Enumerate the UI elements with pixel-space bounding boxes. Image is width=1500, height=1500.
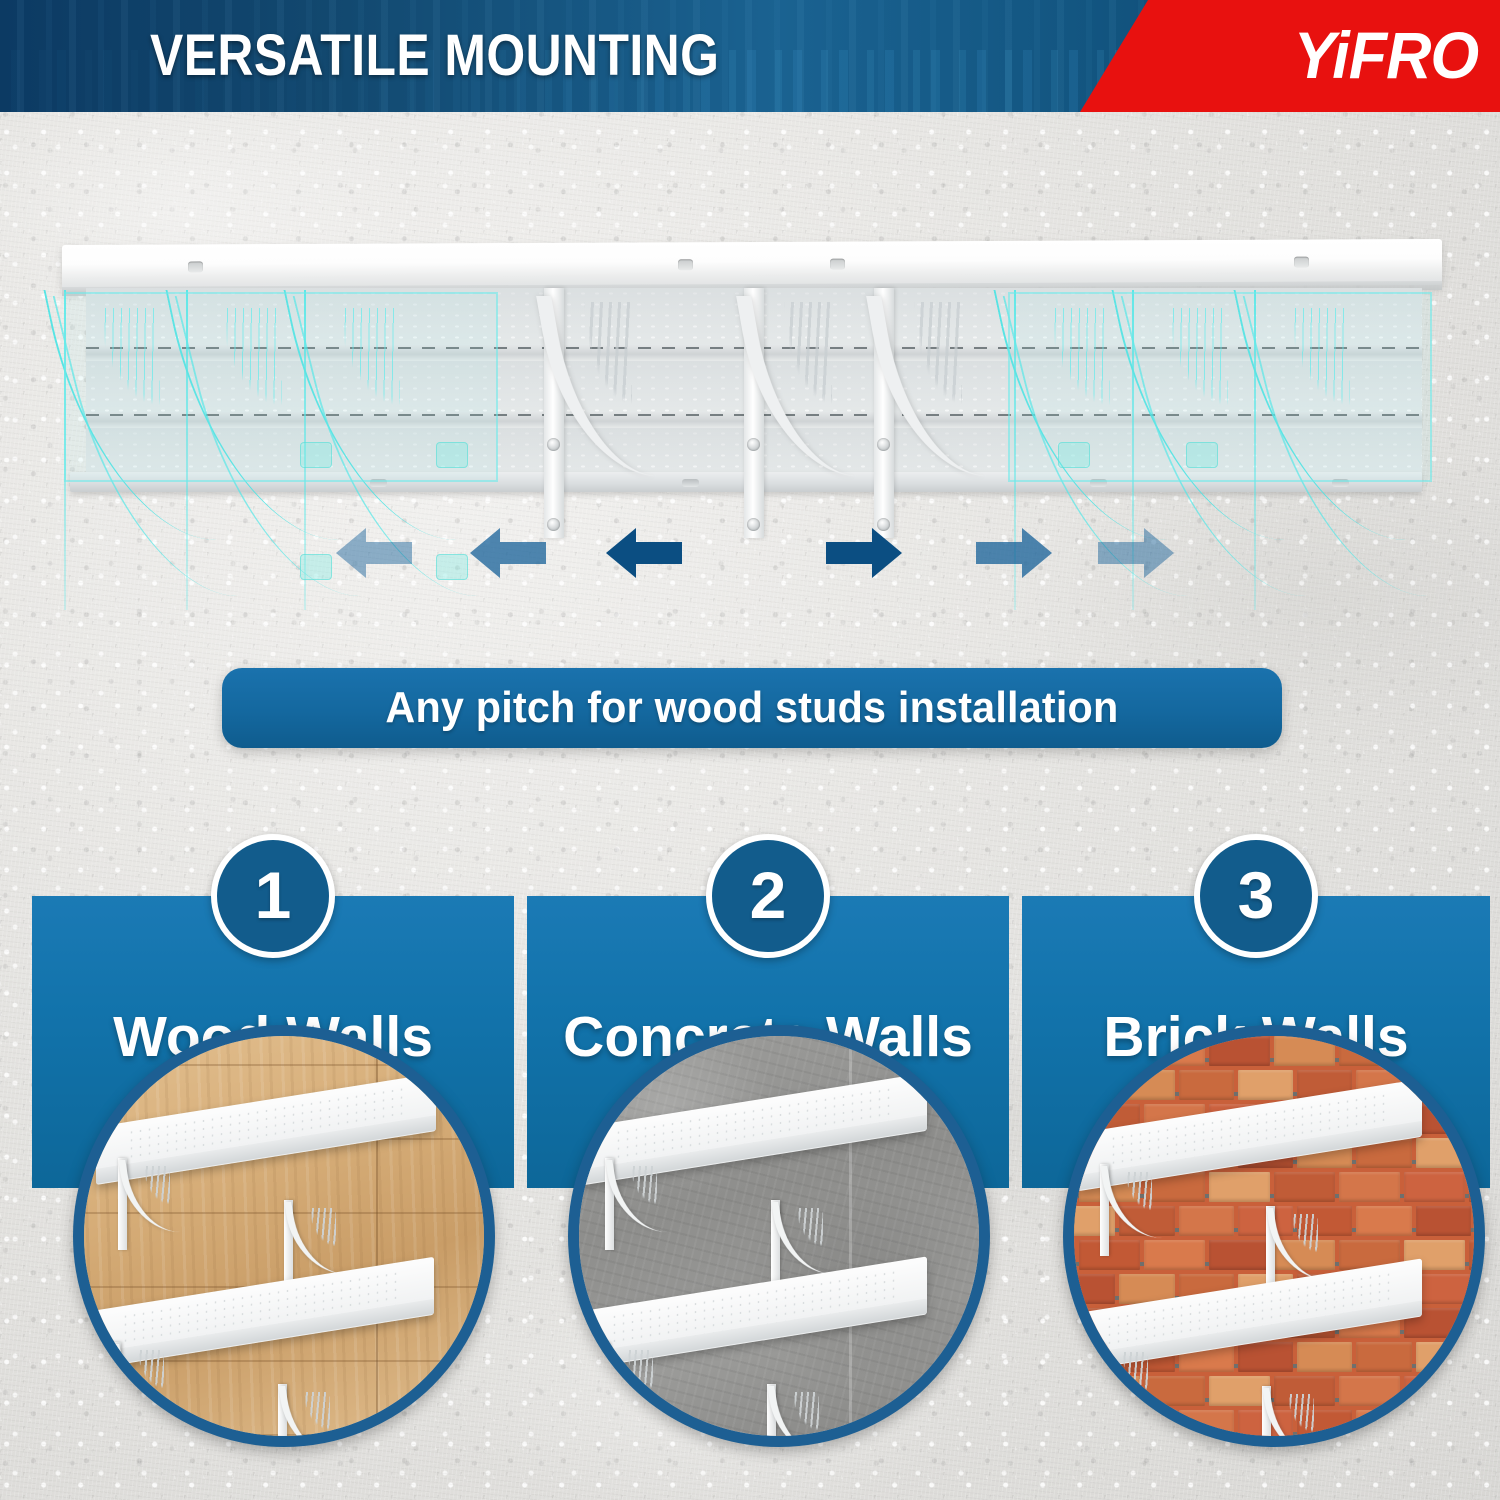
ghost-anchor-left-3 — [300, 554, 332, 580]
card-number-badge: 2 — [706, 834, 830, 958]
page-title: VERSATILE MOUNTING — [150, 14, 719, 98]
brick — [1416, 1274, 1471, 1304]
shelf-lower — [1074, 1286, 1422, 1436]
card-number: 1 — [255, 862, 292, 928]
caption-text: Any pitch for wood studs installation — [385, 683, 1118, 733]
shelf-lower — [579, 1284, 927, 1434]
ghost-anchor-left-2 — [436, 442, 468, 468]
card-number: 3 — [1238, 862, 1275, 928]
brick — [1074, 1240, 1075, 1270]
brick — [1416, 1206, 1471, 1236]
shelf-upper — [96, 1100, 436, 1250]
card-number-badge: 3 — [1194, 834, 1318, 958]
brick — [1119, 1070, 1174, 1100]
brick-row — [1074, 1036, 1474, 1066]
brick — [1469, 1104, 1474, 1134]
brick — [1416, 1138, 1471, 1168]
brick — [1074, 1070, 1115, 1100]
slide-arrow-right-1 — [826, 524, 902, 582]
brick — [1238, 1070, 1293, 1100]
ghost-anchor-left-4 — [436, 554, 468, 580]
brick — [1469, 1308, 1474, 1338]
shelf-upper — [1078, 1106, 1422, 1256]
brick — [1416, 1070, 1471, 1100]
slide-arrow-right-2 — [976, 524, 1052, 582]
brick — [1074, 1036, 1075, 1066]
ghost-anchor-right-2 — [1186, 442, 1218, 468]
brick — [1074, 1172, 1075, 1202]
card-number: 2 — [750, 862, 787, 928]
shelf-lower — [90, 1284, 434, 1434]
brand-logo: YiFRO — [1293, 12, 1478, 98]
marketing-infographic: VERSATILE MOUNTING YiFRO — [0, 0, 1500, 1500]
brick — [1416, 1410, 1471, 1436]
brick — [1179, 1070, 1234, 1100]
slide-arrow-left-1 — [336, 524, 412, 582]
card-photo-wood — [73, 1025, 495, 1447]
shelf-bracket-right — [830, 288, 950, 538]
brick — [1144, 1036, 1205, 1066]
slide-arrow-left-2 — [470, 524, 546, 582]
brick — [1079, 1036, 1140, 1066]
brand-logo-text: YiFRO — [1293, 18, 1478, 92]
ghost-shelf-outline-left — [64, 292, 498, 482]
brick — [1074, 1104, 1075, 1134]
slide-arrow-right-3 — [1098, 524, 1174, 582]
brick — [1469, 1240, 1474, 1270]
brick — [1469, 1376, 1474, 1406]
brick — [1404, 1036, 1465, 1066]
brick — [1469, 1036, 1474, 1066]
caption-pill: Any pitch for wood studs installation — [222, 668, 1282, 748]
brick — [1416, 1342, 1471, 1372]
shelf-bracket-left — [500, 288, 620, 538]
brick — [1469, 1172, 1474, 1202]
hero-illustration — [0, 112, 1500, 657]
brick — [1274, 1036, 1335, 1066]
shelf-upper — [583, 1100, 927, 1250]
shelf-bracket-center — [700, 288, 820, 538]
header-banner: VERSATILE MOUNTING YiFRO — [0, 0, 1500, 112]
card-photo-brick — [1063, 1025, 1485, 1447]
ghost-anchor-right-1 — [1058, 442, 1090, 468]
card-number-badge: 1 — [211, 834, 335, 958]
ghost-anchor-left-1 — [300, 442, 332, 468]
brick — [1339, 1036, 1400, 1066]
card-photo-concrete — [568, 1025, 990, 1447]
brick — [1209, 1036, 1270, 1066]
slide-arrow-left-3 — [606, 524, 682, 582]
